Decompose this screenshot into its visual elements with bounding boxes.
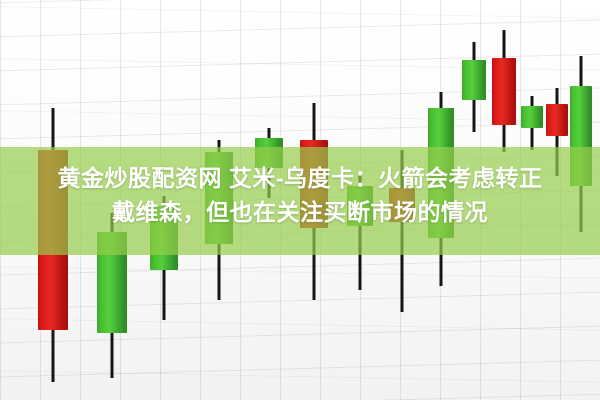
- candlestick-body-up: [462, 60, 486, 100]
- candlestick-body-down: [492, 58, 516, 125]
- candlestick-body-down: [546, 104, 568, 136]
- banner-headline-line-2: 戴维森，但也在关注买断市场的情况: [0, 195, 600, 229]
- candlestick-banner-image: 黄金炒股配资网 艾米-乌度卡：火箭会考虑转正 戴维森，但也在关注买断市场的情况: [0, 0, 600, 400]
- candlestick-body-up: [521, 106, 543, 128]
- banner-headline-line-1: 黄金炒股配资网 艾米-乌度卡：火箭会考虑转正: [0, 161, 600, 195]
- banner-headline: 黄金炒股配资网 艾米-乌度卡：火箭会考虑转正 戴维森，但也在关注买断市场的情况: [0, 161, 600, 229]
